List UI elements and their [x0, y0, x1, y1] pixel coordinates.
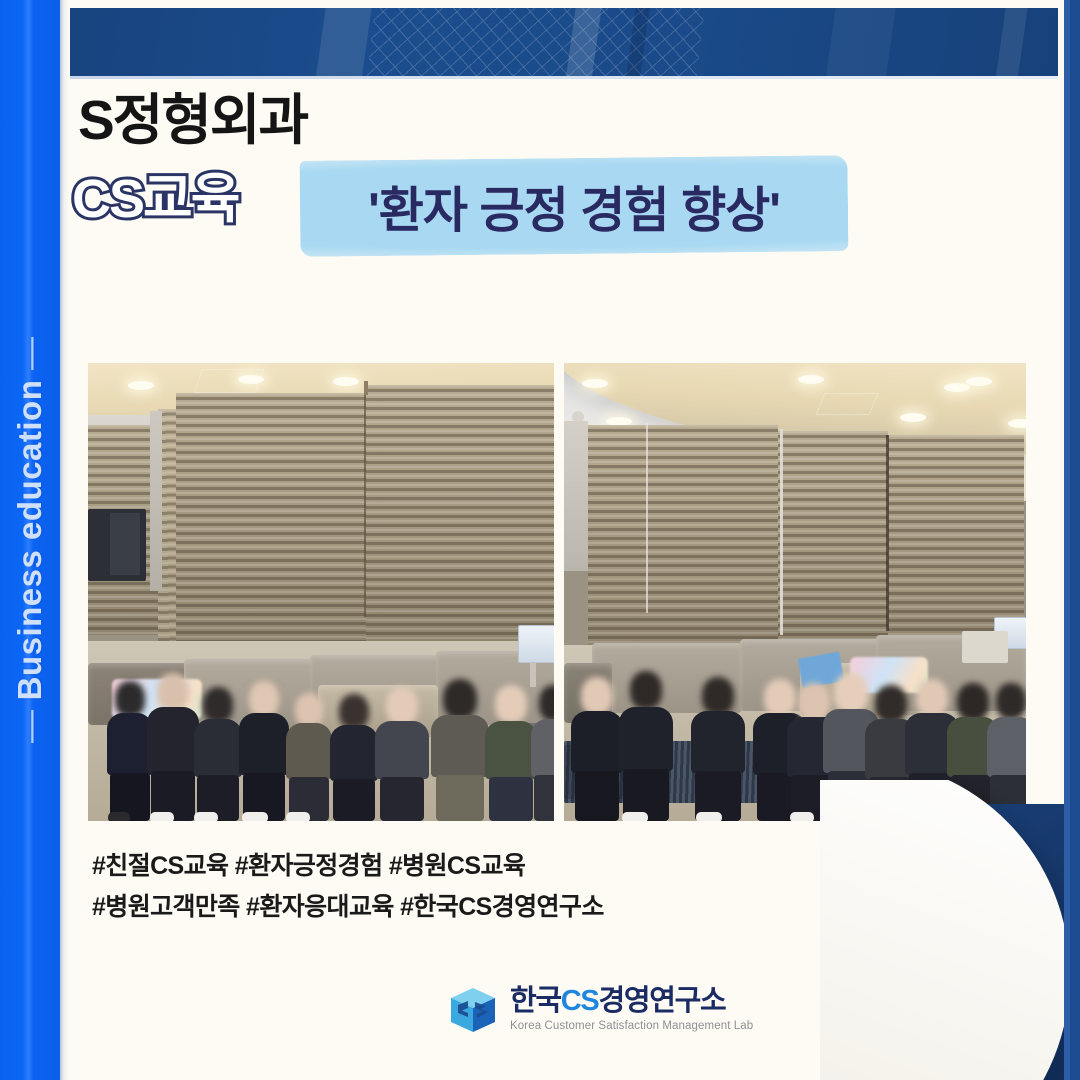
logo-title-part1: 한국: [510, 985, 561, 1017]
hashtag-block: #친절CS교육 #환자긍정경험 #병원CS교육 #병원고객만족 #환자응대교육 …: [92, 846, 604, 927]
sidebar-rail: [0, 0, 60, 1080]
logo-subtitle: Korea Customer Satisfaction Management L…: [510, 1021, 753, 1033]
promo-card: — Business education — S정형외과 CS교육 '환자 긍정…: [0, 0, 1080, 1080]
photo-row: [88, 363, 1026, 821]
right-edge-strip-inner: [1064, 0, 1070, 1080]
hashtag-line-2: #병원고객만족 #환자응대교육 #한국CS경영연구소: [92, 887, 604, 928]
cs-cube-icon: [448, 985, 498, 1035]
header-lattice-texture: [362, 8, 708, 76]
photo-right: [564, 363, 1026, 821]
header-stripe-5: [992, 8, 1031, 76]
page-title: S정형외과: [78, 93, 307, 148]
page-subtitle: CS교육: [72, 172, 238, 226]
quote-banner: '환자 긍정 경험 향상': [300, 158, 848, 254]
sidebar-rail-shadow: [60, 0, 69, 1080]
logo-text-group: 한국CS경영연구소 Korea Customer Satisfaction Ma…: [510, 987, 753, 1033]
logo-title-part2: CS: [561, 985, 599, 1017]
header-stripe-1: [312, 8, 375, 76]
header-band: [70, 8, 1058, 76]
logo-title: 한국CS경영연구소: [510, 987, 753, 1016]
header-underline: [70, 76, 1058, 79]
quote-text: '환자 긍정 경험 향상': [300, 158, 848, 254]
brand-logo: 한국CS경영연구소 Korea Customer Satisfaction Ma…: [448, 985, 753, 1035]
header-stripe-4: [822, 8, 899, 76]
logo-title-part3: 경영연구소: [598, 985, 725, 1017]
hashtag-line-1: #친절CS교육 #환자긍정경험 #병원CS교육: [92, 846, 604, 887]
photo-left: [88, 363, 554, 821]
